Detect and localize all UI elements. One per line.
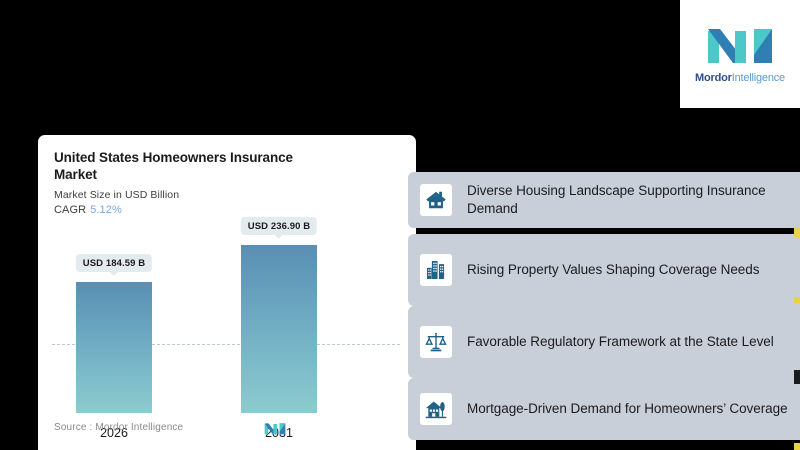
driver-card-label: Rising Property Values Shaping Coverage … — [467, 261, 759, 279]
chart-title: United States Homeowners Insurance Marke… — [54, 149, 312, 184]
driver-card-property-values[interactable]: Rising Property Values Shaping Coverage … — [408, 234, 800, 306]
bar-value-label-2031: USD 236.90 B — [241, 217, 317, 235]
brand-name-bold: Mordor — [695, 72, 732, 84]
chart-footer: Source : Mordor Intelligence — [54, 422, 400, 438]
brand-wordmark: MordorIntelligence — [695, 72, 785, 84]
house-with-tree-icon — [420, 393, 452, 425]
house-icon — [420, 184, 452, 216]
page-edge-artifact — [794, 297, 800, 303]
bar-2031[interactable] — [241, 245, 317, 413]
page-edge-artifact — [794, 228, 800, 238]
driver-card-regulatory-framework[interactable]: Favorable Regulatory Framework at the St… — [408, 306, 800, 378]
bar-value-label-2026: USD 184.59 B — [76, 254, 152, 272]
driver-card-housing-landscape[interactable]: Diverse Housing Landscape Supporting Ins… — [408, 172, 800, 228]
driver-card-mortgage-demand[interactable]: Mortgage-Driven Demand for Homeowners’ C… — [408, 378, 800, 440]
driver-card-label: Favorable Regulatory Framework at the St… — [467, 333, 774, 351]
bar-chart-plot-area: USD 184.59 B 2026 USD 236.90 B 2031 — [38, 213, 416, 413]
city-buildings-icon — [420, 254, 452, 286]
page-edge-artifact — [794, 370, 800, 384]
market-drivers-panel: Diverse Housing Landscape Supporting Ins… — [408, 172, 800, 440]
balance-scales-icon — [420, 326, 452, 358]
bar-2026[interactable] — [76, 282, 152, 413]
bar-group-2026: USD 184.59 B 2026 — [76, 213, 152, 413]
mordor-mi-monogram-icon — [264, 422, 286, 435]
page-edge-artifact — [794, 443, 800, 450]
chart-subtitle: Market Size in USD Billion — [54, 189, 400, 201]
source-attribution: Source : Mordor Intelligence — [54, 422, 183, 433]
brand-logo-plate: MordorIntelligence — [680, 0, 800, 108]
driver-card-label: Mortgage-Driven Demand for Homeowners’ C… — [467, 400, 788, 418]
mordor-mi-monogram-icon — [706, 25, 774, 65]
brand-name-light: Intelligence — [732, 72, 785, 84]
driver-cards-block: Rising Property Values Shaping Coverage … — [408, 234, 800, 440]
bar-group-2031: USD 236.90 B 2031 — [241, 213, 317, 413]
driver-card-label: Diverse Housing Landscape Supporting Ins… — [467, 182, 790, 218]
market-size-chart-card: United States Homeowners Insurance Marke… — [38, 135, 416, 450]
